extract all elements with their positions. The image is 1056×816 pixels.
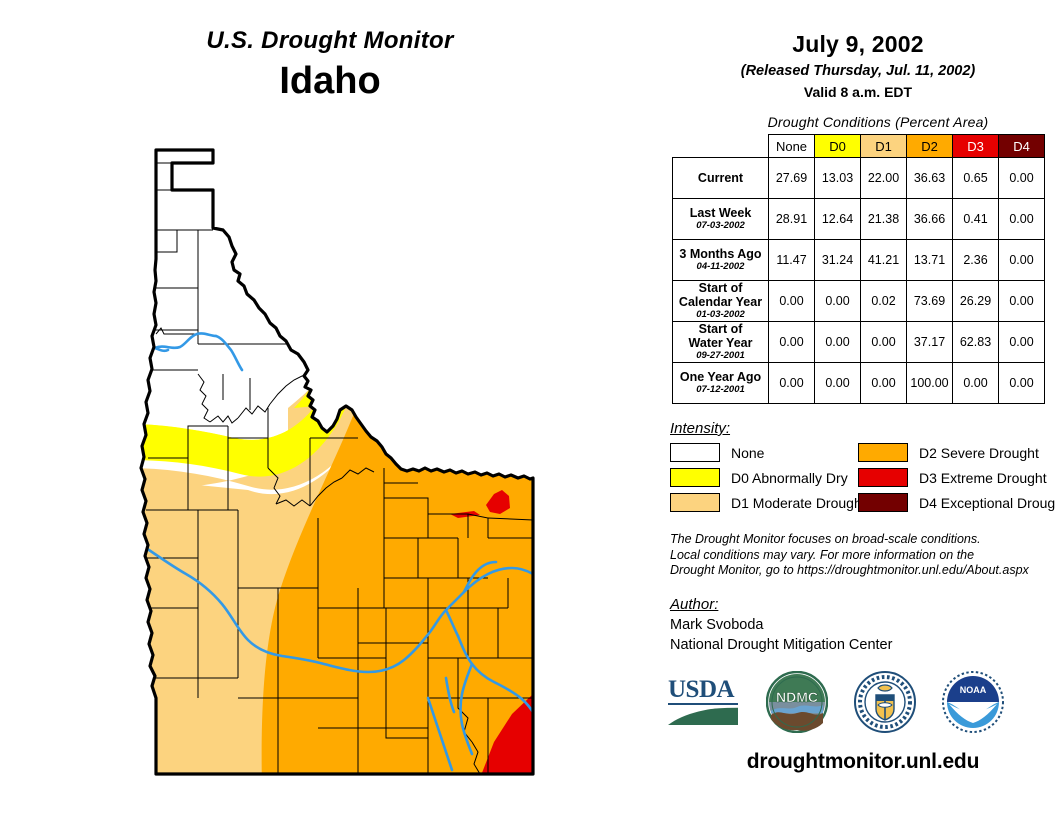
column-header-d4: D4 <box>999 135 1045 158</box>
cell-d0: 31.24 <box>815 240 861 281</box>
map-svg <box>128 138 553 788</box>
drought-fill-layers <box>128 138 553 788</box>
cell-none: 28.91 <box>769 199 815 240</box>
table-header-row: None D0 D1 D2 D3 D4 <box>673 135 1045 158</box>
cell-d2: 100.00 <box>907 363 953 404</box>
row-label: Start ofCalendar Year01-03-2002 <box>673 281 769 322</box>
row-label: Last Week07-03-2002 <box>673 199 769 240</box>
cell-d3: 0.41 <box>953 199 999 240</box>
valid-time: Valid 8 a.m. EDT <box>660 83 1056 102</box>
table-caption: Drought Conditions (Percent Area) <box>700 114 1056 130</box>
cell-d4: 0.00 <box>999 199 1045 240</box>
cell-d3: 62.83 <box>953 322 999 363</box>
cell-d2: 36.63 <box>907 158 953 199</box>
cell-d1: 21.38 <box>861 199 907 240</box>
author-title: Author: <box>670 596 1056 613</box>
cell-d0: 13.03 <box>815 158 861 199</box>
legend-swatch-d0 <box>670 468 720 487</box>
row-label: 3 Months Ago04-11-2002 <box>673 240 769 281</box>
legend: Intensity: NoneD2 Severe DroughtD0 Abnor… <box>670 420 1056 512</box>
program-title: U.S. Drought Monitor <box>0 26 660 56</box>
cell-d0: 12.64 <box>815 199 861 240</box>
cell-d2: 37.17 <box>907 322 953 363</box>
cell-none: 0.00 <box>769 363 815 404</box>
cell-none: 0.00 <box>769 322 815 363</box>
disclaimer-line-2: Local conditions may vary. For more info… <box>670 548 1056 564</box>
row-label-text: One Year Ago <box>680 370 761 384</box>
right-panel: July 9, 2002 (Released Thursday, Jul. 11… <box>660 0 1056 816</box>
cell-d0: 0.00 <box>815 281 861 322</box>
cell-d1: 22.00 <box>861 158 907 199</box>
title-block: U.S. Drought Monitor Idaho <box>0 26 660 104</box>
row-label-date: 09-27-2001 <box>673 350 768 362</box>
svg-text:NDMC: NDMC <box>776 689 818 705</box>
legend-label-d4: D4 Exceptional Drought <box>919 495 1056 511</box>
author-organization: National Drought Mitigation Center <box>670 635 1056 655</box>
cell-d0: 0.00 <box>815 322 861 363</box>
legend-grid: NoneD2 Severe DroughtD0 Abnormally DryD3… <box>670 443 1056 512</box>
row-label-text: Current <box>698 171 743 185</box>
legend-swatch-d3 <box>858 468 908 487</box>
legend-label-d3: D3 Extreme Drought <box>919 470 1047 486</box>
row-label: Current <box>673 158 769 199</box>
legend-title: Intensity: <box>670 420 1056 437</box>
row-label-text: Start ofWater Year <box>689 322 753 350</box>
cell-d2: 13.71 <box>907 240 953 281</box>
cell-d4: 0.00 <box>999 281 1045 322</box>
legend-label-d2: D2 Severe Drought <box>919 445 1039 461</box>
cell-none: 0.00 <box>769 281 815 322</box>
table-body: Current27.6913.0322.0036.630.650.00Last … <box>673 158 1045 404</box>
site-url[interactable]: droughtmonitor.unl.edu <box>670 750 1056 774</box>
author-name: Mark Svoboda <box>670 615 1056 635</box>
cell-d4: 0.00 <box>999 363 1045 404</box>
legend-item-d0: D0 Abnormally Dry <box>670 468 858 487</box>
table-corner-cell <box>673 135 769 158</box>
svg-text:USDA: USDA <box>668 676 735 703</box>
column-header-none: None <box>769 135 815 158</box>
disclaimer-line-1: The Drought Monitor focuses on broad-sca… <box>670 532 1056 548</box>
cell-d3: 0.00 <box>953 363 999 404</box>
table-row: One Year Ago07-12-20010.000.000.00100.00… <box>673 363 1045 404</box>
issue-date: July 9, 2002 <box>660 30 1056 59</box>
cell-d2: 36.66 <box>907 199 953 240</box>
table-row: Last Week07-03-200228.9112.6421.3836.660… <box>673 199 1045 240</box>
table-row: Start ofWater Year09-27-20010.000.000.00… <box>673 322 1045 363</box>
cell-d1: 41.21 <box>861 240 907 281</box>
cell-d4: 0.00 <box>999 158 1045 199</box>
cell-none: 27.69 <box>769 158 815 199</box>
legend-item-d2: D2 Severe Drought <box>858 443 1046 462</box>
date-block: July 9, 2002 (Released Thursday, Jul. 11… <box>660 0 1056 102</box>
row-label-date: 07-12-2001 <box>673 384 768 396</box>
table-row: Start ofCalendar Year01-03-20020.000.000… <box>673 281 1045 322</box>
usdc-seal-logo[interactable] <box>854 671 916 738</box>
cell-d1: 0.00 <box>861 363 907 404</box>
table-row: 3 Months Ago04-11-200211.4731.2441.2113.… <box>673 240 1045 281</box>
column-header-d0: D0 <box>815 135 861 158</box>
cell-d3: 26.29 <box>953 281 999 322</box>
legend-label-d1: D1 Moderate Drought <box>731 495 866 511</box>
row-label-text: 3 Months Ago <box>679 247 761 261</box>
row-label-text: Last Week <box>690 206 752 220</box>
legend-swatch-d1 <box>670 493 720 512</box>
author-block: Author: Mark Svoboda National Drought Mi… <box>670 596 1056 655</box>
legend-item-d3: D3 Extreme Drought <box>858 468 1046 487</box>
row-label: One Year Ago07-12-2001 <box>673 363 769 404</box>
idaho-drought-map[interactable] <box>128 138 553 788</box>
legend-item-none: None <box>670 443 858 462</box>
row-label-text: Start ofCalendar Year <box>679 281 762 309</box>
legend-item-d4: D4 Exceptional Drought <box>858 493 1046 512</box>
row-label: Start ofWater Year09-27-2001 <box>673 322 769 363</box>
row-label-date: 01-03-2002 <box>673 309 768 321</box>
cell-d1: 0.00 <box>861 322 907 363</box>
legend-swatch-d2 <box>858 443 908 462</box>
cell-d0: 0.00 <box>815 363 861 404</box>
usda-logo[interactable]: USDA <box>666 673 740 736</box>
column-header-d2: D2 <box>907 135 953 158</box>
row-label-date: 04-11-2002 <box>673 261 768 273</box>
legend-swatch-none <box>670 443 720 462</box>
row-label-date: 07-03-2002 <box>673 220 768 232</box>
disclaimer: The Drought Monitor focuses on broad-sca… <box>670 532 1056 579</box>
column-header-d1: D1 <box>861 135 907 158</box>
cell-d2: 73.69 <box>907 281 953 322</box>
cell-d4: 0.00 <box>999 322 1045 363</box>
cell-d3: 0.65 <box>953 158 999 199</box>
table-row: Current27.6913.0322.0036.630.650.00 <box>673 158 1045 199</box>
cell-d4: 0.00 <box>999 240 1045 281</box>
svg-text:NOAA: NOAA <box>960 685 987 695</box>
drought-conditions-table: None D0 D1 D2 D3 D4 Current27.6913.0322.… <box>672 134 1045 404</box>
cell-d3: 2.36 <box>953 240 999 281</box>
legend-swatch-d4 <box>858 493 908 512</box>
disclaimer-line-3: Drought Monitor, go to https://droughtmo… <box>670 563 1056 579</box>
legend-item-d1: D1 Moderate Drought <box>670 493 858 512</box>
cell-d1: 0.02 <box>861 281 907 322</box>
state-title: Idaho <box>0 58 660 104</box>
logo-row: USDA NDMC <box>666 671 1056 738</box>
release-date: (Released Thursday, Jul. 11, 2002) <box>660 61 1056 81</box>
legend-label-d0: D0 Abnormally Dry <box>731 470 848 486</box>
noaa-logo[interactable]: NOAA <box>942 671 1004 738</box>
ndmc-logo[interactable]: NDMC <box>766 671 828 738</box>
column-header-d3: D3 <box>953 135 999 158</box>
cell-none: 11.47 <box>769 240 815 281</box>
legend-label-none: None <box>731 445 764 461</box>
